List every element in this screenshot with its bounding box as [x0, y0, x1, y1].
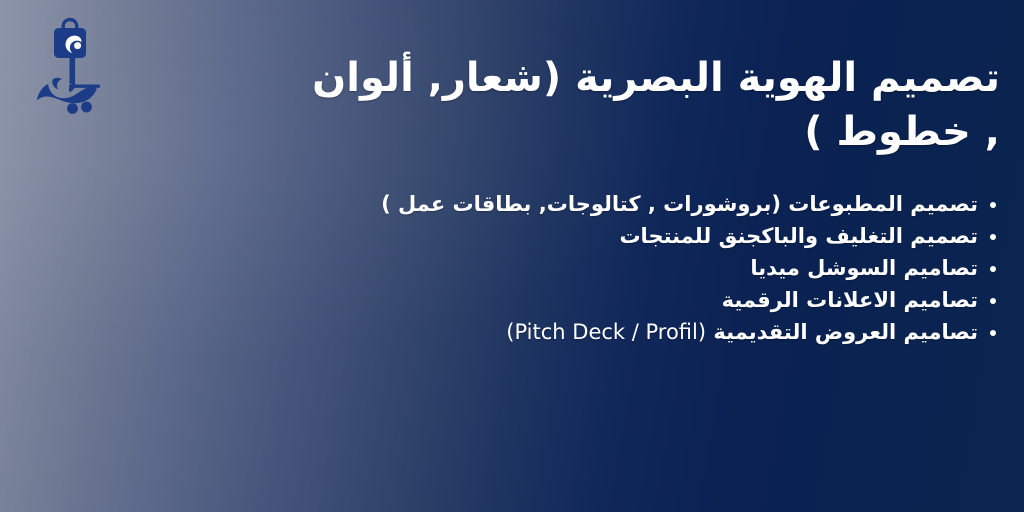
- list-item-label: تصميم المطبوعات (بروشورات , كتالوجات, بط…: [381, 192, 978, 216]
- services-list: تصميم المطبوعات (بروشورات , كتالوجات, بط…: [300, 189, 1000, 349]
- list-item-label: تصميم التغليف والباكجنق للمنتجات: [619, 224, 978, 248]
- page-title: تصميم الهوية البصرية (شعار, ألوان , خطوط…: [300, 0, 1000, 159]
- list-item-latin-label: (Pitch Deck / Profil): [506, 320, 706, 344]
- list-item: تصاميم السوشل ميديا: [300, 253, 1000, 285]
- list-item-label: تصاميم الاعلانات الرقمية: [722, 288, 978, 312]
- slide-content: تصميم الهوية البصرية (شعار, ألوان , خطوط…: [300, 0, 1000, 512]
- list-item-label: تصاميم العروض التقديمية: [713, 320, 978, 344]
- list-item: تصميم المطبوعات (بروشورات , كتالوجات, بط…: [300, 189, 1000, 221]
- slide-canvas: تصميم الهوية البصرية (شعار, ألوان , خطوط…: [0, 0, 1024, 512]
- list-item: تصميم التغليف والباكجنق للمنتجات: [300, 221, 1000, 253]
- page-title-line-1: تصميم الهوية البصرية (شعار, ألوان: [312, 55, 1000, 101]
- list-item-label: تصاميم السوشل ميديا: [750, 256, 978, 280]
- list-item: تصاميم الاعلانات الرقمية: [300, 285, 1000, 317]
- page-title-line-2: , خطوط ): [804, 109, 1000, 155]
- list-item: تصاميم العروض التقديمية (Pitch Deck / Pr…: [300, 317, 1000, 349]
- arabic-calligraphy-shopping-bag-logo: [34, 12, 110, 120]
